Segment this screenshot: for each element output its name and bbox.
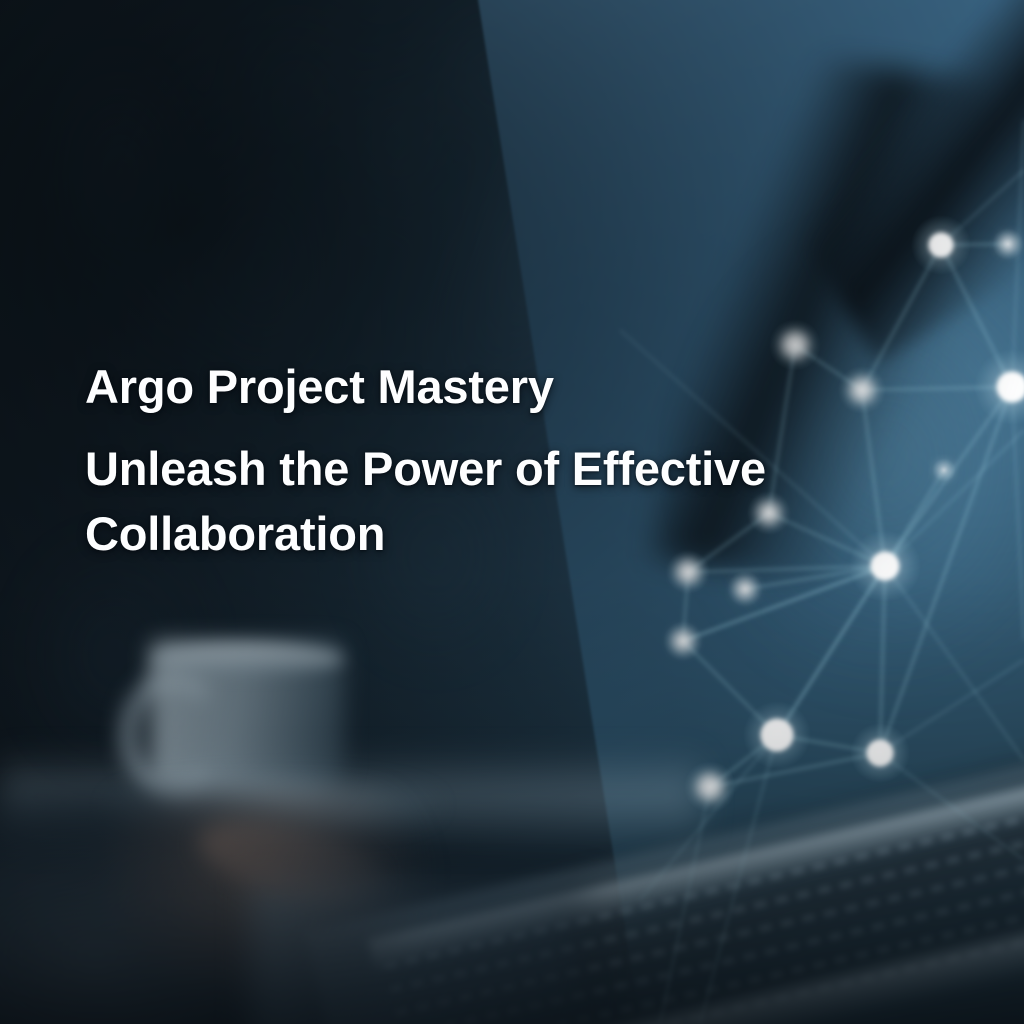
hero-banner: Argo Project Mastery Unleash the Power o…: [0, 0, 1024, 1024]
headline-eyebrow: Argo Project Mastery: [85, 356, 945, 418]
headline-block: Argo Project Mastery Unleash the Power o…: [85, 356, 945, 566]
headline-title: Unleash the Power of Effective Collabora…: [85, 436, 935, 566]
